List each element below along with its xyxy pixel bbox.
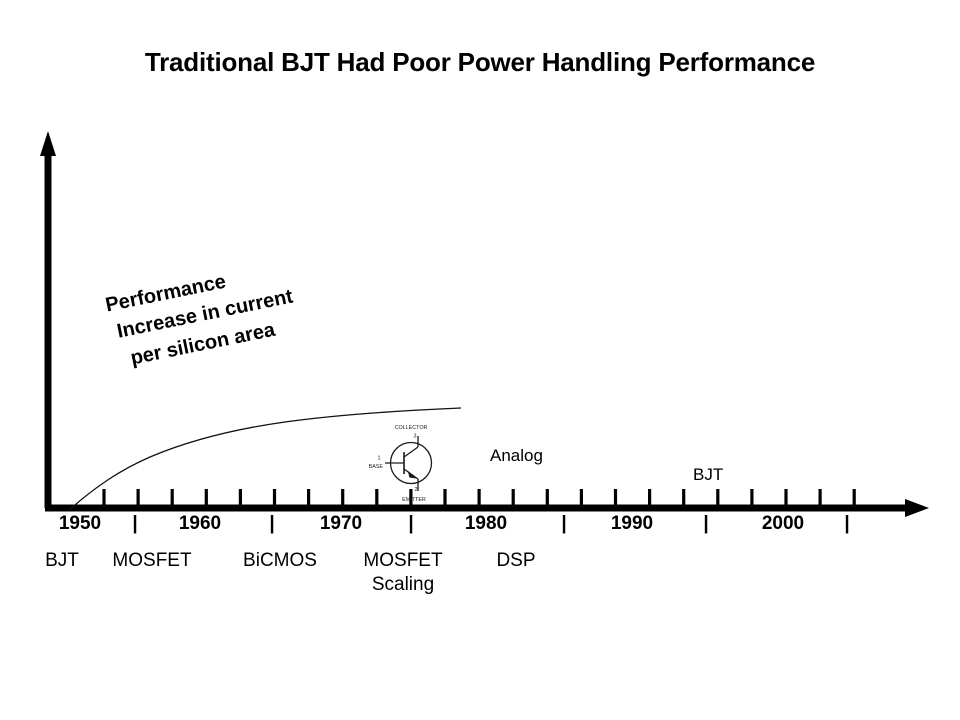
technology-label: MOSFET [112,549,191,573]
x-axis-year-label: 1970 [320,513,362,535]
x-axis-separator: | [269,513,274,535]
x-axis-separator: | [132,513,137,535]
x-axis-separator: | [408,513,413,535]
x-axis-ticks [104,489,854,506]
technology-label: BJT [45,549,79,573]
technology-label-line1: MOSFET [112,550,191,571]
x-axis-separator: | [703,513,708,535]
technology-label-line1: DSP [496,550,535,571]
x-axis-year-label: 1950 [59,513,101,535]
technology-label-line1: BJT [45,550,79,571]
technology-label: MOSFETScaling [363,549,442,597]
annotation-bjt: BJT [693,465,723,485]
slide-canvas: Traditional BJT Had Poor Power Handling … [0,0,960,720]
x-axis-year-label: 1980 [465,513,507,535]
x-axis-separator: | [561,513,566,535]
x-axis-year-label: 1960 [179,513,221,535]
technology-label-line2: Scaling [363,573,442,597]
x-axis-label-row: 1950|1960|1970|1980|1990|2000| [0,513,960,537]
collector-label: COLLECTOR [395,425,428,431]
technology-label: DSP [496,549,535,573]
collector-pin: 3 [414,434,417,440]
y-axis [40,131,56,508]
annotation-analog: Analog [490,446,543,466]
performance-curve [68,408,461,511]
technology-label-row: BJTMOSFETBiCMOSMOSFETScalingDSP [0,549,960,599]
technology-label-line1: MOSFET [363,550,442,571]
base-pin: 1 [378,456,381,462]
technology-label-line1: BiCMOS [243,550,317,571]
x-axis-separator: | [844,513,849,535]
base-label: BASE [369,464,384,470]
x-axis-year-label: 2000 [762,513,804,535]
emitter-pin: 2 [415,487,418,493]
emitter-label: EMITTER [402,497,426,503]
technology-label: BiCMOS [243,549,317,573]
x-axis-year-label: 1990 [611,513,653,535]
